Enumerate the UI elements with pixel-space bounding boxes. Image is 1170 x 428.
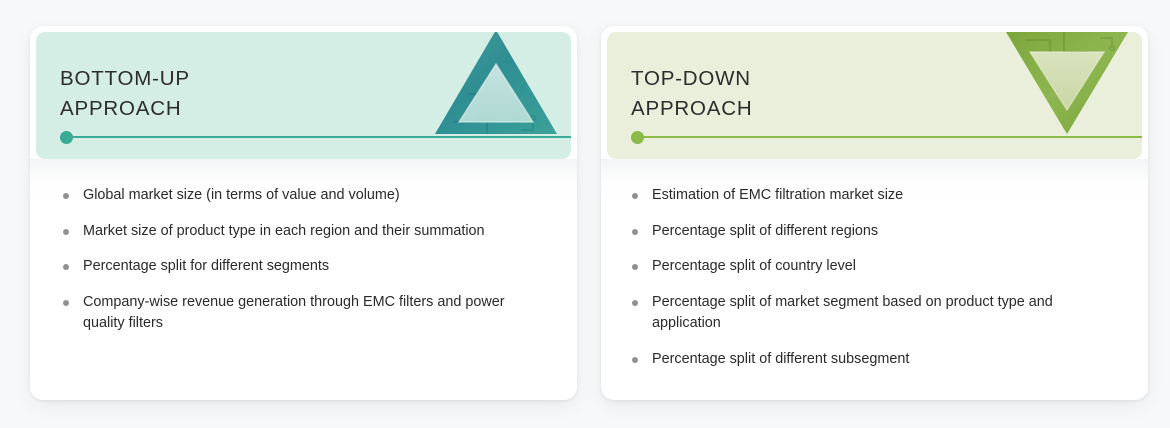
card-title-top-down: TOP-DOWN APPROACH <box>631 64 752 124</box>
triangle-up-icon <box>433 32 559 138</box>
card-body-top-down: Estimation of EMC filtration market size… <box>601 159 1148 400</box>
card-header-top-down: TOP-DOWN APPROACH <box>607 32 1142 159</box>
card-header-bottom-up: BOTTOM-UP APPROACH <box>36 32 571 159</box>
list-item: Percentage split of different subsegment <box>621 349 1118 371</box>
accent-rule-top-down <box>631 136 1142 138</box>
accent-line-bottom-up <box>67 136 571 138</box>
accent-line-top-down <box>638 136 1142 138</box>
card-bottom-up-approach: BOTTOM-UP APPROACH <box>30 26 577 400</box>
bullet-list-top-down: Estimation of EMC filtration market size… <box>621 185 1118 370</box>
accent-rule-bottom-up <box>60 136 571 138</box>
list-item: Market size of product type in each regi… <box>54 221 543 243</box>
list-item: Percentage split of different regions <box>621 221 1118 243</box>
bullet-list-bottom-up: Global market size (in terms of value an… <box>54 185 543 335</box>
list-item: Percentage split for different segments <box>54 256 543 278</box>
approach-comparison-board: BOTTOM-UP APPROACH <box>0 0 1170 428</box>
card-body-bottom-up: Global market size (in terms of value an… <box>30 159 577 400</box>
list-item: Percentage split of market segment based… <box>621 292 1118 335</box>
list-item: Global market size (in terms of value an… <box>54 185 543 207</box>
list-item: Estimation of EMC filtration market size <box>621 185 1118 207</box>
triangle-down-icon <box>1004 32 1130 138</box>
list-item: Percentage split of country level <box>621 256 1118 278</box>
card-top-down-approach: TOP-DOWN APPROACH <box>601 26 1148 400</box>
card-title-bottom-up: BOTTOM-UP APPROACH <box>60 64 190 124</box>
list-item: Company-wise revenue generation through … <box>54 292 543 335</box>
